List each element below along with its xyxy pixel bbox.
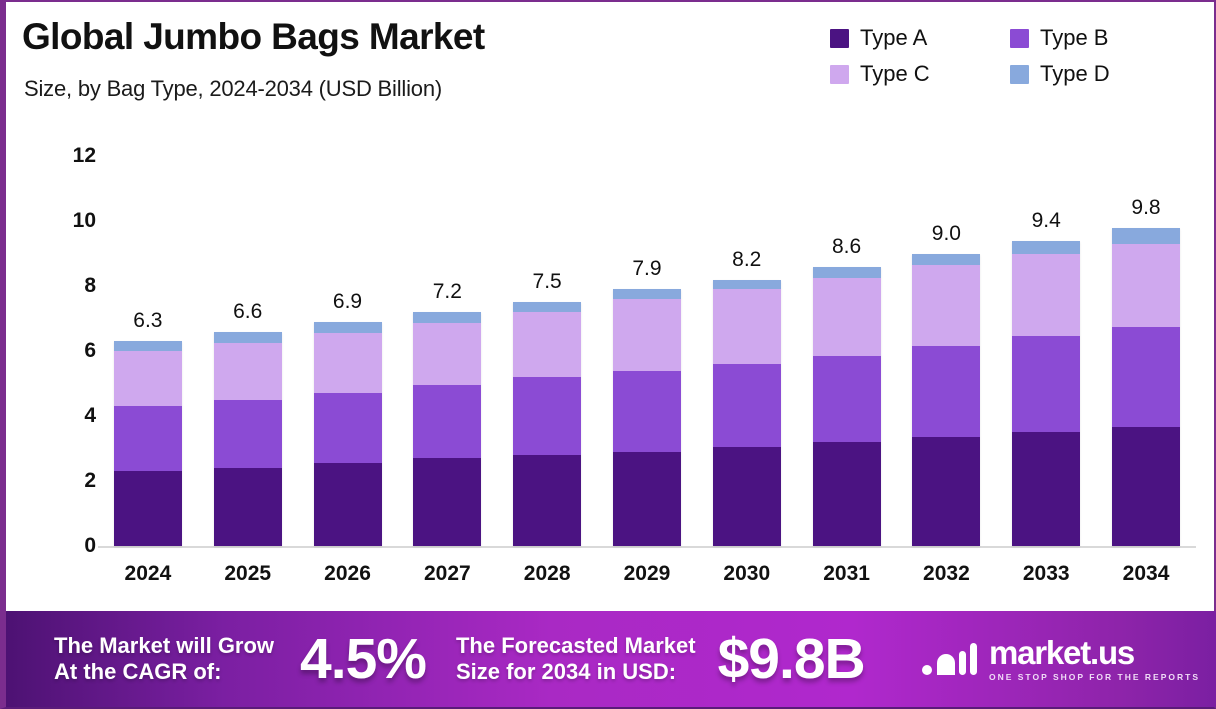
legend-item-type-b[interactable]: Type B [1010,20,1185,56]
page-subtitle: Size, by Bag Type, 2024-2034 (USD Billio… [24,76,442,102]
y-axis-tick: 4 [50,404,96,428]
bar-segment-type-d[interactable] [613,289,681,299]
bar-segment-type-c[interactable] [413,323,481,385]
cagr-caption-line1: The Market will Grow [54,633,274,659]
bar-segment-type-a[interactable] [513,455,581,546]
x-axis-label: 2032 [897,562,997,596]
bar-segment-type-b[interactable] [713,364,781,447]
bar-segment-type-c[interactable] [912,265,980,346]
bar-segment-type-d[interactable] [114,341,182,351]
legend-label-type-d: Type D [1040,61,1110,87]
bar-segment-type-c[interactable] [513,312,581,377]
legend-label-type-c: Type C [860,61,930,87]
bar-group[interactable]: 6.9 [298,156,398,546]
bar-segment-type-a[interactable] [713,447,781,546]
bar-segment-type-b[interactable] [813,356,881,442]
chart-plot-area: 121086420 6.36.66.97.27.57.98.28.69.09.4… [6,132,1216,602]
bar-stack[interactable] [713,280,781,547]
x-axis-label: 2033 [996,562,1096,596]
market-us-logo-icon [921,639,979,679]
bar-total-label: 7.9 [597,257,697,281]
bar-segment-type-c[interactable] [114,351,182,406]
bar-segment-type-c[interactable] [813,278,881,356]
x-axis-label: 2029 [597,562,697,596]
y-axis-tick: 10 [50,209,96,233]
page-title: Global Jumbo Bags Market [22,16,485,58]
bar-segment-type-a[interactable] [1012,432,1080,546]
bar-total-label: 6.6 [198,300,298,324]
bar-total-label: 6.9 [298,290,398,314]
bar-stack[interactable] [813,267,881,547]
bar-stack[interactable] [912,254,980,547]
market-us-logo[interactable]: market.us ONE STOP SHOP FOR THE REPORTS [921,636,1200,682]
x-axis-label: 2034 [1096,562,1196,596]
bar-segment-type-d[interactable] [314,322,382,333]
y-axis-tick: 2 [50,469,96,493]
logo-wordmark: market.us [989,636,1200,669]
chart-legend: Type A Type B Type C Type D [830,20,1190,92]
bar-total-label: 7.5 [497,270,597,294]
x-axis-label: 2026 [298,562,398,596]
x-axis-label: 2030 [697,562,797,596]
bar-segment-type-b[interactable] [114,406,182,471]
bar-total-label: 8.2 [697,248,797,272]
bar-segment-type-a[interactable] [114,471,182,546]
bar-segment-type-b[interactable] [413,385,481,458]
bar-total-label: 9.0 [897,222,997,246]
x-axis-line [98,546,1196,548]
legend-row-2: Type C Type D [830,56,1190,92]
bar-segment-type-a[interactable] [613,452,681,546]
bar-segment-type-b[interactable] [314,393,382,463]
bar-group[interactable]: 7.9 [597,156,697,546]
footer-banner: The Market will Grow At the CAGR of: 4.5… [6,611,1216,707]
x-axis-labels: 2024202520262027202820292030203120322033… [98,562,1196,596]
bar-segment-type-d[interactable] [413,312,481,323]
bar-segment-type-d[interactable] [513,302,581,312]
bar-segment-type-c[interactable] [214,343,282,400]
cagr-caption: The Market will Grow At the CAGR of: [54,633,274,685]
bar-stack[interactable] [613,289,681,546]
bar-total-label: 6.3 [98,309,198,333]
bar-segment-type-b[interactable] [912,346,980,437]
x-axis-label: 2027 [397,562,497,596]
cagr-value: 4.5% [300,626,426,692]
market-size-caption: The Forecasted Market Size for 2034 in U… [456,633,696,685]
infographic-root: Global Jumbo Bags Market Size, by Bag Ty… [0,0,1216,709]
market-size-value: $9.8B [718,626,865,692]
bar-series-container: 6.36.66.97.27.57.98.28.69.09.49.8 [98,156,1196,546]
bar-stack[interactable] [513,302,581,546]
bar-group[interactable]: 7.5 [497,156,597,546]
bar-stack[interactable] [1012,241,1080,547]
legend-item-type-a[interactable]: Type A [830,20,1010,56]
market-size-caption-line1: The Forecasted Market [456,633,696,659]
bar-group[interactable]: 6.3 [98,156,198,546]
bar-total-label: 9.8 [1096,196,1196,220]
bar-group[interactable]: 7.2 [397,156,497,546]
bar-segment-type-c[interactable] [1012,254,1080,337]
legend-item-type-d[interactable]: Type D [1010,56,1185,92]
bar-stack[interactable] [314,322,382,546]
bar-segment-type-a[interactable] [413,458,481,546]
y-axis-tick: 6 [50,339,96,363]
x-axis-label: 2028 [497,562,597,596]
bar-segment-type-a[interactable] [1112,427,1180,546]
legend-swatch-type-d [1010,65,1029,84]
legend-swatch-type-b [1010,29,1029,48]
bar-group[interactable]: 9.4 [996,156,1096,546]
bar-group[interactable]: 9.0 [897,156,997,546]
bar-group[interactable]: 8.2 [697,156,797,546]
bar-segment-type-a[interactable] [912,437,980,546]
legend-swatch-type-c [830,65,849,84]
bar-group[interactable]: 6.6 [198,156,298,546]
bar-group[interactable]: 9.8 [1096,156,1196,546]
bar-stack[interactable] [413,312,481,546]
y-axis-tick: 0 [50,534,96,558]
market-size-caption-line2: Size for 2034 in USD: [456,659,696,685]
bar-segment-type-a[interactable] [813,442,881,546]
bar-total-label: 7.2 [397,280,497,304]
bar-segment-type-d[interactable] [713,280,781,290]
legend-item-type-c[interactable]: Type C [830,56,1010,92]
bar-segment-type-c[interactable] [314,333,382,393]
bar-stack[interactable] [114,341,182,546]
legend-swatch-type-a [830,29,849,48]
bar-segment-type-b[interactable] [613,371,681,452]
y-axis-tick: 8 [50,274,96,298]
bar-segment-type-d[interactable] [912,254,980,265]
bar-segment-type-c[interactable] [613,299,681,371]
bar-stack[interactable] [1112,228,1180,547]
bar-segment-type-b[interactable] [513,377,581,455]
bar-segment-type-a[interactable] [314,463,382,546]
cagr-caption-line2: At the CAGR of: [54,659,274,685]
bar-segment-type-b[interactable] [214,400,282,468]
bar-segment-type-b[interactable] [1112,327,1180,428]
legend-label-type-b: Type B [1040,25,1108,51]
x-axis-label: 2031 [797,562,897,596]
legend-label-type-a: Type A [860,25,927,51]
logo-tagline: ONE STOP SHOP FOR THE REPORTS [989,672,1200,682]
bar-total-label: 9.4 [996,209,1096,233]
legend-row-1: Type A Type B [830,20,1190,56]
bar-stack[interactable] [214,332,282,547]
x-axis-label: 2025 [198,562,298,596]
bar-segment-type-a[interactable] [214,468,282,546]
bar-segment-type-c[interactable] [1112,244,1180,327]
y-axis: 121086420 [50,132,96,602]
bar-segment-type-d[interactable] [1112,228,1180,244]
market-us-logo-text: market.us ONE STOP SHOP FOR THE REPORTS [989,636,1200,682]
x-axis-label: 2024 [98,562,198,596]
bar-segment-type-b[interactable] [1012,336,1080,432]
bar-segment-type-d[interactable] [1012,241,1080,254]
bar-segment-type-d[interactable] [214,332,282,343]
bar-group[interactable]: 8.6 [797,156,897,546]
bar-segment-type-c[interactable] [713,289,781,364]
y-axis-tick: 12 [50,144,96,168]
bar-segment-type-d[interactable] [813,267,881,278]
bar-total-label: 8.6 [797,235,897,259]
